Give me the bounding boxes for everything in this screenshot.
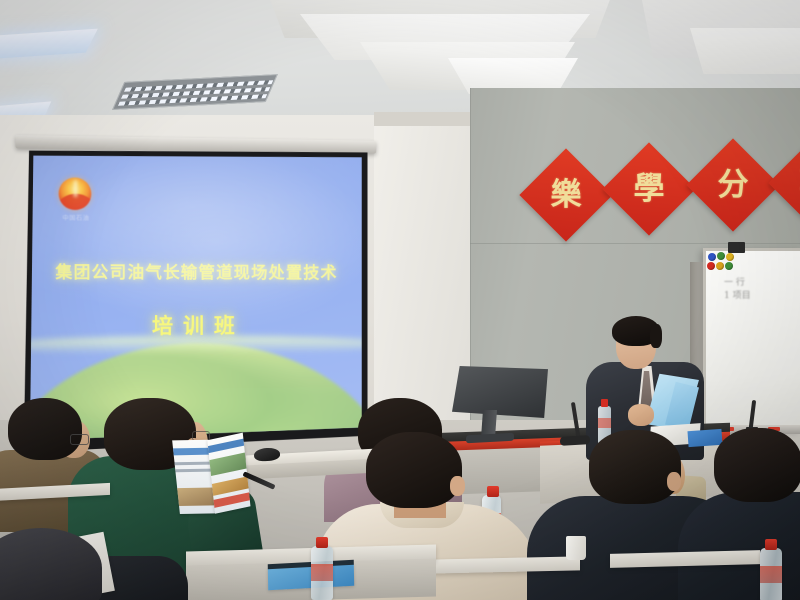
wall-banner-diamond: 學 xyxy=(602,142,695,235)
brochure xyxy=(172,434,251,515)
water-bottle xyxy=(760,548,782,600)
whiteboard-magnets xyxy=(707,252,741,272)
water-bottle xyxy=(311,546,333,600)
attendee-ear xyxy=(667,472,681,491)
presenter-hand xyxy=(628,404,654,426)
attendee-foreground xyxy=(0,528,110,600)
banner-character: 學 xyxy=(616,156,682,222)
attendee-hair xyxy=(366,432,462,508)
photo-scene: 中国石油 集团公司油气长输管道现场处置技术 培训班 樂 學 分 享 一 行 1 … xyxy=(0,0,800,600)
wall-banner-diamond: 分 xyxy=(686,138,779,231)
attendee-ear xyxy=(450,476,465,496)
ceiling-light-icon xyxy=(0,29,98,60)
banner-character: 享 xyxy=(782,150,800,216)
banner-character: 分 xyxy=(700,152,766,218)
attendee-dark-suit-2 xyxy=(700,428,800,600)
banner-character: 樂 xyxy=(533,162,599,228)
petrochina-logo-text: 中国石油 xyxy=(59,213,94,222)
petrochina-logo: 中国石油 xyxy=(59,177,94,222)
wall-soffit xyxy=(374,112,474,126)
monitor-screen xyxy=(452,366,548,418)
slide-title: 集团公司油气长输管道现场处置技术 xyxy=(30,258,362,283)
presenter-hair xyxy=(612,316,660,346)
petrochina-sunburst-icon xyxy=(59,177,92,210)
lcd-monitor xyxy=(452,366,548,440)
whiteboard-writing: 一 行 1 项目 xyxy=(724,277,800,307)
attendee-hair xyxy=(0,528,102,600)
slide-subtitle: 培训班 xyxy=(30,310,362,341)
paper-cup xyxy=(566,536,586,560)
ceiling-light-grille-icon xyxy=(112,74,278,110)
attendee-hair xyxy=(714,428,800,502)
whiteboard-writing-line: 1 项目 xyxy=(724,290,800,303)
wall-banner-diamond: 樂 xyxy=(519,148,612,241)
ceiling-coffer xyxy=(690,28,800,74)
whiteboard-writing-line: 一 行 xyxy=(724,277,800,290)
attendee-hair xyxy=(589,430,681,504)
